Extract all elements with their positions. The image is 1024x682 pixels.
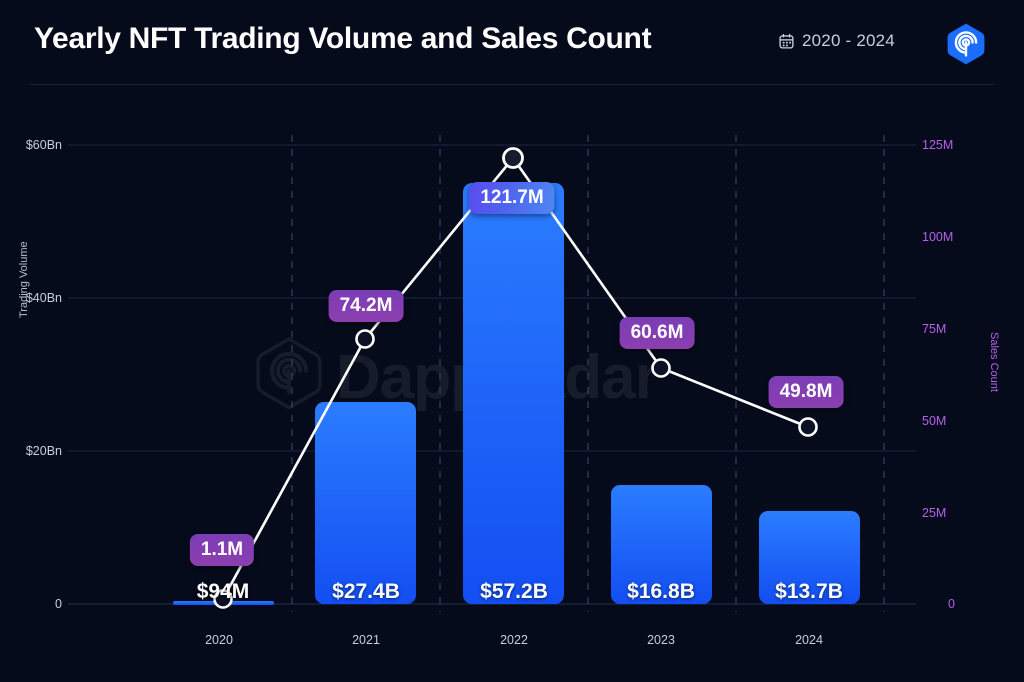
x-tick-2021: 2021 [352, 633, 380, 647]
sales-badge-2024: 49.8M [769, 376, 844, 408]
y-tick-right-50m: 50M [922, 414, 946, 428]
y-axis-left-title: Trading Volume [18, 241, 30, 318]
sales-badge-2021: 74.2M [329, 290, 404, 322]
sales-badge-2022: 121.7M [469, 182, 554, 214]
y-tick-right-100m: 100M [922, 230, 953, 244]
sales-badge-2023: 60.6M [620, 317, 695, 349]
y-tick-right-125m: 125M [922, 138, 953, 152]
x-tick-2024: 2024 [795, 633, 823, 647]
bar-2021 [315, 402, 416, 604]
y-tick-left-0: 0 [0, 597, 62, 611]
y-tick-left-60: $60Bn [0, 138, 62, 152]
chart-plot-area: Trading Volume Sales Count $60Bn $40Bn $… [0, 0, 1024, 682]
y-tick-right-25m: 25M [922, 506, 946, 520]
y-tick-right-0: 0 [948, 597, 955, 611]
y-axis-right-title: Sales Count [988, 332, 1000, 392]
bar-label-2022: $57.2B [480, 580, 548, 604]
sales-badge-2020: 1.1M [190, 534, 254, 566]
chart-card: Yearly NFT Trading Volume and Sales Coun… [0, 0, 1024, 682]
bar-label-2020: $94M [197, 580, 250, 604]
y-tick-right-75m: 75M [922, 322, 946, 336]
x-tick-2023: 2023 [647, 633, 675, 647]
bar-label-2024: $13.7B [775, 580, 843, 604]
bar-label-2023: $16.8B [627, 580, 695, 604]
x-tick-2020: 2020 [205, 633, 233, 647]
y-tick-left-40: $40Bn [0, 291, 62, 305]
bar-2022 [463, 183, 564, 604]
bars [173, 183, 860, 605]
y-tick-left-20: $20Bn [0, 444, 62, 458]
bar-label-2021: $27.4B [332, 580, 400, 604]
x-tick-2022: 2022 [500, 633, 528, 647]
